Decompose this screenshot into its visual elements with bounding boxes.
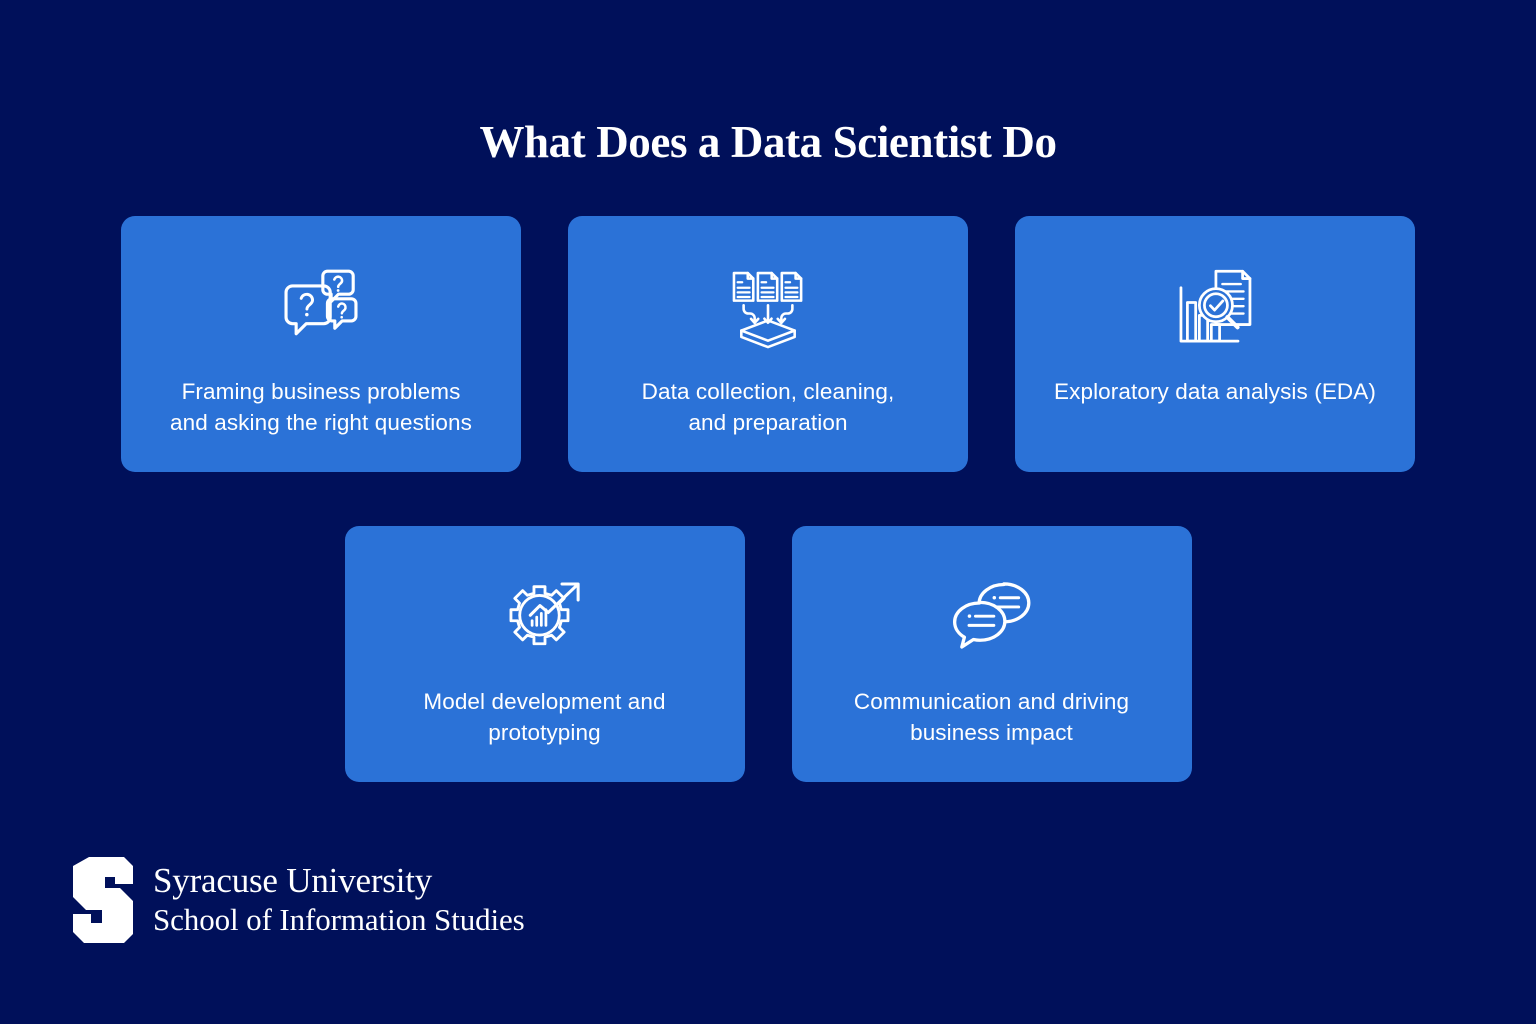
- page-title: What Does a Data Scientist Do: [0, 116, 1536, 168]
- card-label: Model development and prototyping: [375, 686, 715, 748]
- card-label: Framing business problems and asking the…: [151, 376, 491, 438]
- two-speech-bubbles-icon: [946, 572, 1038, 664]
- logo-school-name: School of Information Studies: [153, 901, 525, 939]
- question-speech-bubbles-icon: [275, 262, 367, 354]
- card-communication-impact[interactable]: Communication and driving business impac…: [792, 526, 1192, 782]
- card-row-top: Framing business problems and asking the…: [0, 216, 1536, 472]
- card-exploratory-data-analysis[interactable]: Exploratory data analysis (EDA): [1015, 216, 1415, 472]
- chart-magnifier-document-icon: [1169, 262, 1261, 354]
- card-label: Exploratory data analysis (EDA): [1045, 376, 1385, 407]
- logo-wordmark: Syracuse University School of Informatio…: [153, 861, 525, 939]
- card-label: Communication and driving business impac…: [822, 686, 1162, 748]
- card-model-development[interactable]: Model development and prototyping: [345, 526, 745, 782]
- card-grid: Framing business problems and asking the…: [0, 216, 1536, 782]
- card-framing-business-problems[interactable]: Framing business problems and asking the…: [121, 216, 521, 472]
- syracuse-block-s-icon: [72, 857, 134, 943]
- logo-university-name: Syracuse University: [153, 861, 525, 901]
- card-label: Data collection, cleaning, and preparati…: [598, 376, 938, 438]
- gear-growth-arrow-icon: [499, 572, 591, 664]
- card-data-collection[interactable]: Data collection, cleaning, and preparati…: [568, 216, 968, 472]
- documents-into-box-icon: [722, 262, 814, 354]
- syracuse-logo-lockup[interactable]: Syracuse University School of Informatio…: [72, 857, 525, 943]
- card-row-bottom: Model development and prototyping Co: [0, 526, 1536, 782]
